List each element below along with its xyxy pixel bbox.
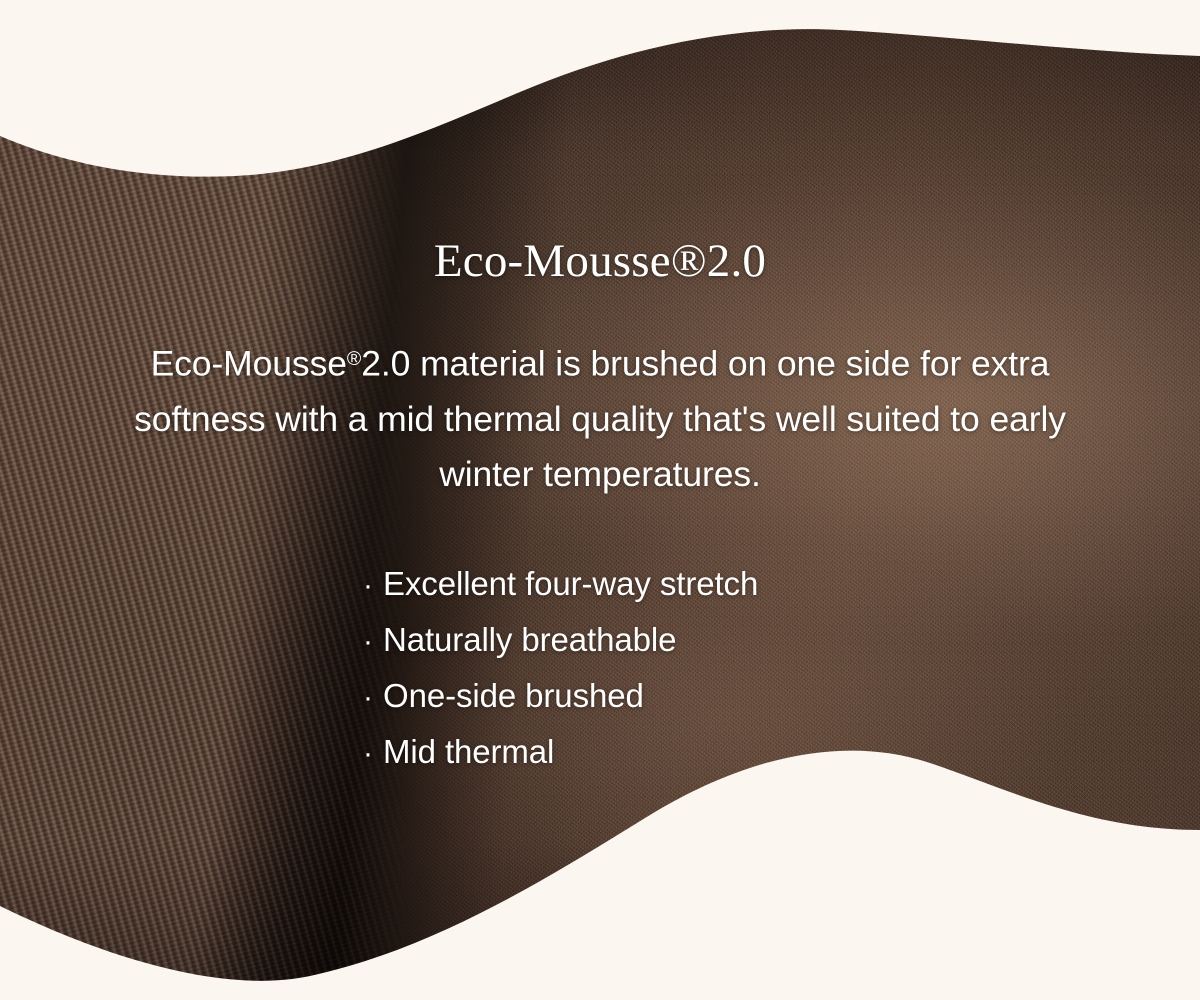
bullet-dot-icon: · [363, 727, 383, 781]
list-item: · One-side brushed [363, 669, 758, 725]
bullet-dot-icon: · [363, 671, 383, 725]
feature-label: Excellent four-way stretch [383, 557, 758, 611]
feature-label: One-side brushed [383, 669, 644, 723]
bullet-dot-icon: · [363, 559, 383, 613]
list-item: · Naturally breathable [363, 613, 758, 669]
hero-text-content: Eco-Mousse®2.0 Eco-Mousse®2.0 material i… [0, 0, 1200, 1000]
list-item: · Mid thermal [363, 725, 758, 781]
feature-label: Naturally breathable [383, 613, 676, 667]
description-brand-prefix: Eco-Mousse [151, 344, 347, 384]
feature-list: · Excellent four-way stretch · Naturally… [363, 557, 758, 781]
page-title: Eco-Mousse®2.0 [0, 236, 1200, 287]
description-paragraph: Eco-Mousse®2.0 material is brushed on on… [100, 332, 1100, 502]
registered-trademark-icon: ® [347, 348, 361, 370]
hero-banner: Eco-Mousse®2.0 Eco-Mousse®2.0 material i… [0, 0, 1200, 1000]
feature-label: Mid thermal [383, 725, 554, 779]
bullet-dot-icon: · [363, 615, 383, 669]
list-item: · Excellent four-way stretch [363, 557, 758, 613]
